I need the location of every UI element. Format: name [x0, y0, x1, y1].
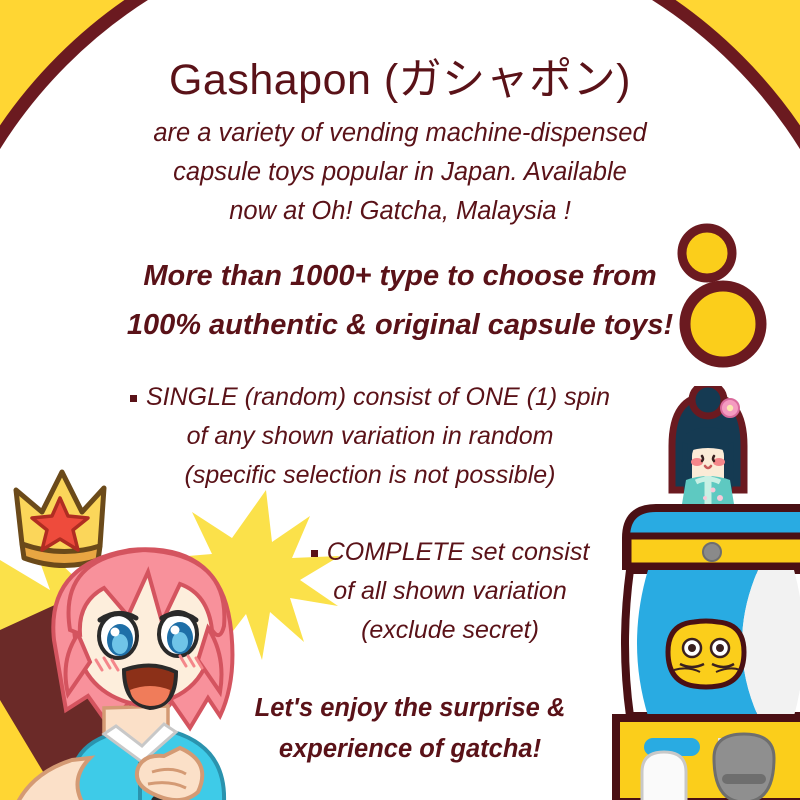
- lede-paragraph: are a variety of vending machine-dispens…: [0, 114, 800, 230]
- headline-block: More than 1000+ type to choose from 100%…: [0, 252, 800, 349]
- bullet-marker-icon: [130, 395, 137, 402]
- daruma-icon: [668, 621, 744, 687]
- lede-line: are a variety of vending machine-dispens…: [0, 114, 800, 153]
- gashapon-machine: [608, 386, 800, 800]
- bullet-complete-text: COMPLETE set consist: [327, 538, 590, 566]
- anime-girl-character: [12, 510, 312, 800]
- headline-line: More than 1000+ type to choose from: [0, 252, 800, 301]
- bullet-single-text: SINGLE (random) consist of ONE (1) spin: [146, 383, 610, 411]
- lede-line: now at Oh! Gatcha, Malaysia !: [0, 192, 800, 231]
- page-title: Gashapon (ガシャポン): [0, 56, 800, 104]
- lede-line: capsule toys popular in Japan. Available: [0, 153, 800, 192]
- kokeshi-doll: [672, 386, 744, 504]
- headline-line: 100% authentic & original capsule toys!: [0, 301, 800, 350]
- gashapon-promo-poster: Gashapon (ガシャポン) are a variety of vendin…: [0, 0, 800, 800]
